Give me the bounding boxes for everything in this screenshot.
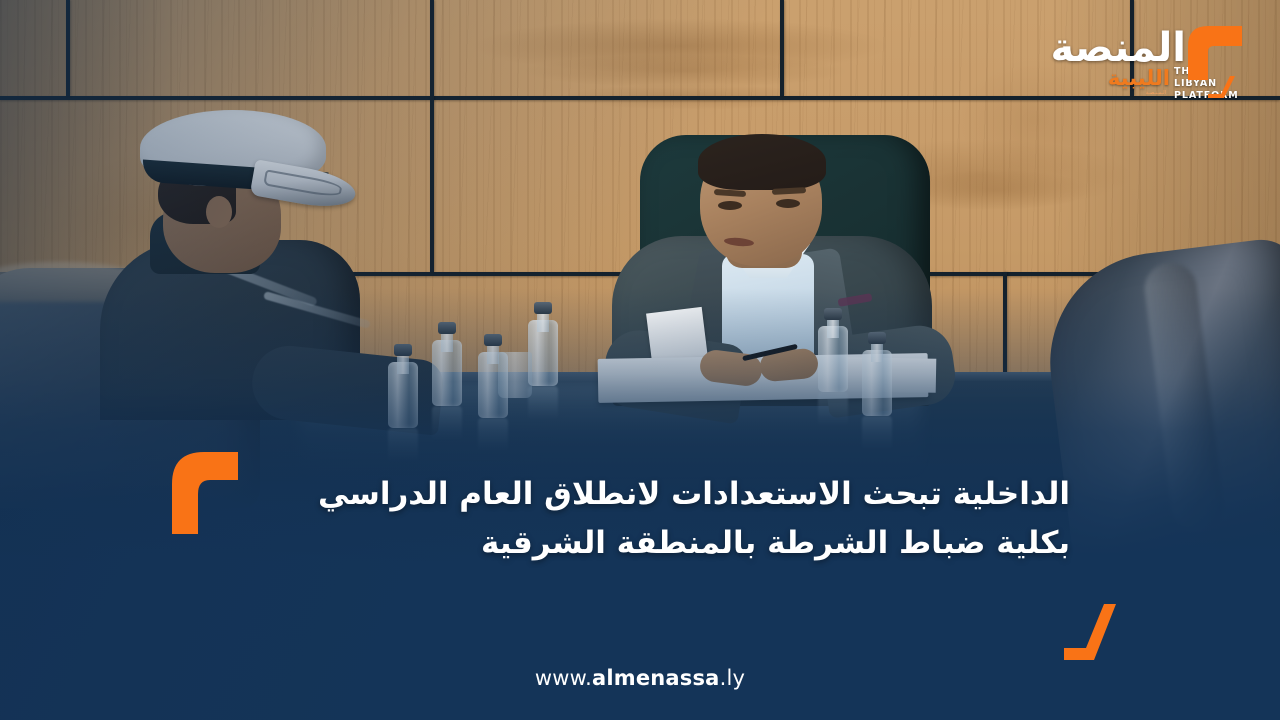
headline-line-1: الداخلية تبحث الاستعدادات لانطلاق العام …: [318, 476, 1070, 512]
headline: الداخلية تبحث الاستعدادات لانطلاق العام …: [200, 470, 1070, 568]
url-prefix: www.: [535, 666, 592, 690]
letter-mark-icon: [1208, 76, 1238, 98]
headline-line-2: بكلية ضباط الشرطة بالمنطقة الشرقية: [200, 519, 1070, 568]
url-tld: .ly: [720, 666, 746, 690]
logo-arabic-micro: الـمـنـصـة: [1146, 90, 1166, 96]
hook-bracket-icon: [1180, 22, 1244, 80]
orange-corner-icon: [1064, 604, 1124, 660]
logo-arabic-name: المنصة: [1050, 28, 1186, 68]
website-url[interactable]: www.almenassa.ly: [0, 666, 1280, 690]
news-social-card: المنصة الليبية الـمـنـصـة THE LIBYAN PLA…: [0, 0, 1280, 720]
brand-logo[interactable]: المنصة الليبية الـمـنـصـة THE LIBYAN PLA…: [1054, 16, 1244, 108]
logo-arabic-sub: الليبية: [1108, 68, 1170, 89]
url-brand: almenassa: [592, 666, 720, 690]
